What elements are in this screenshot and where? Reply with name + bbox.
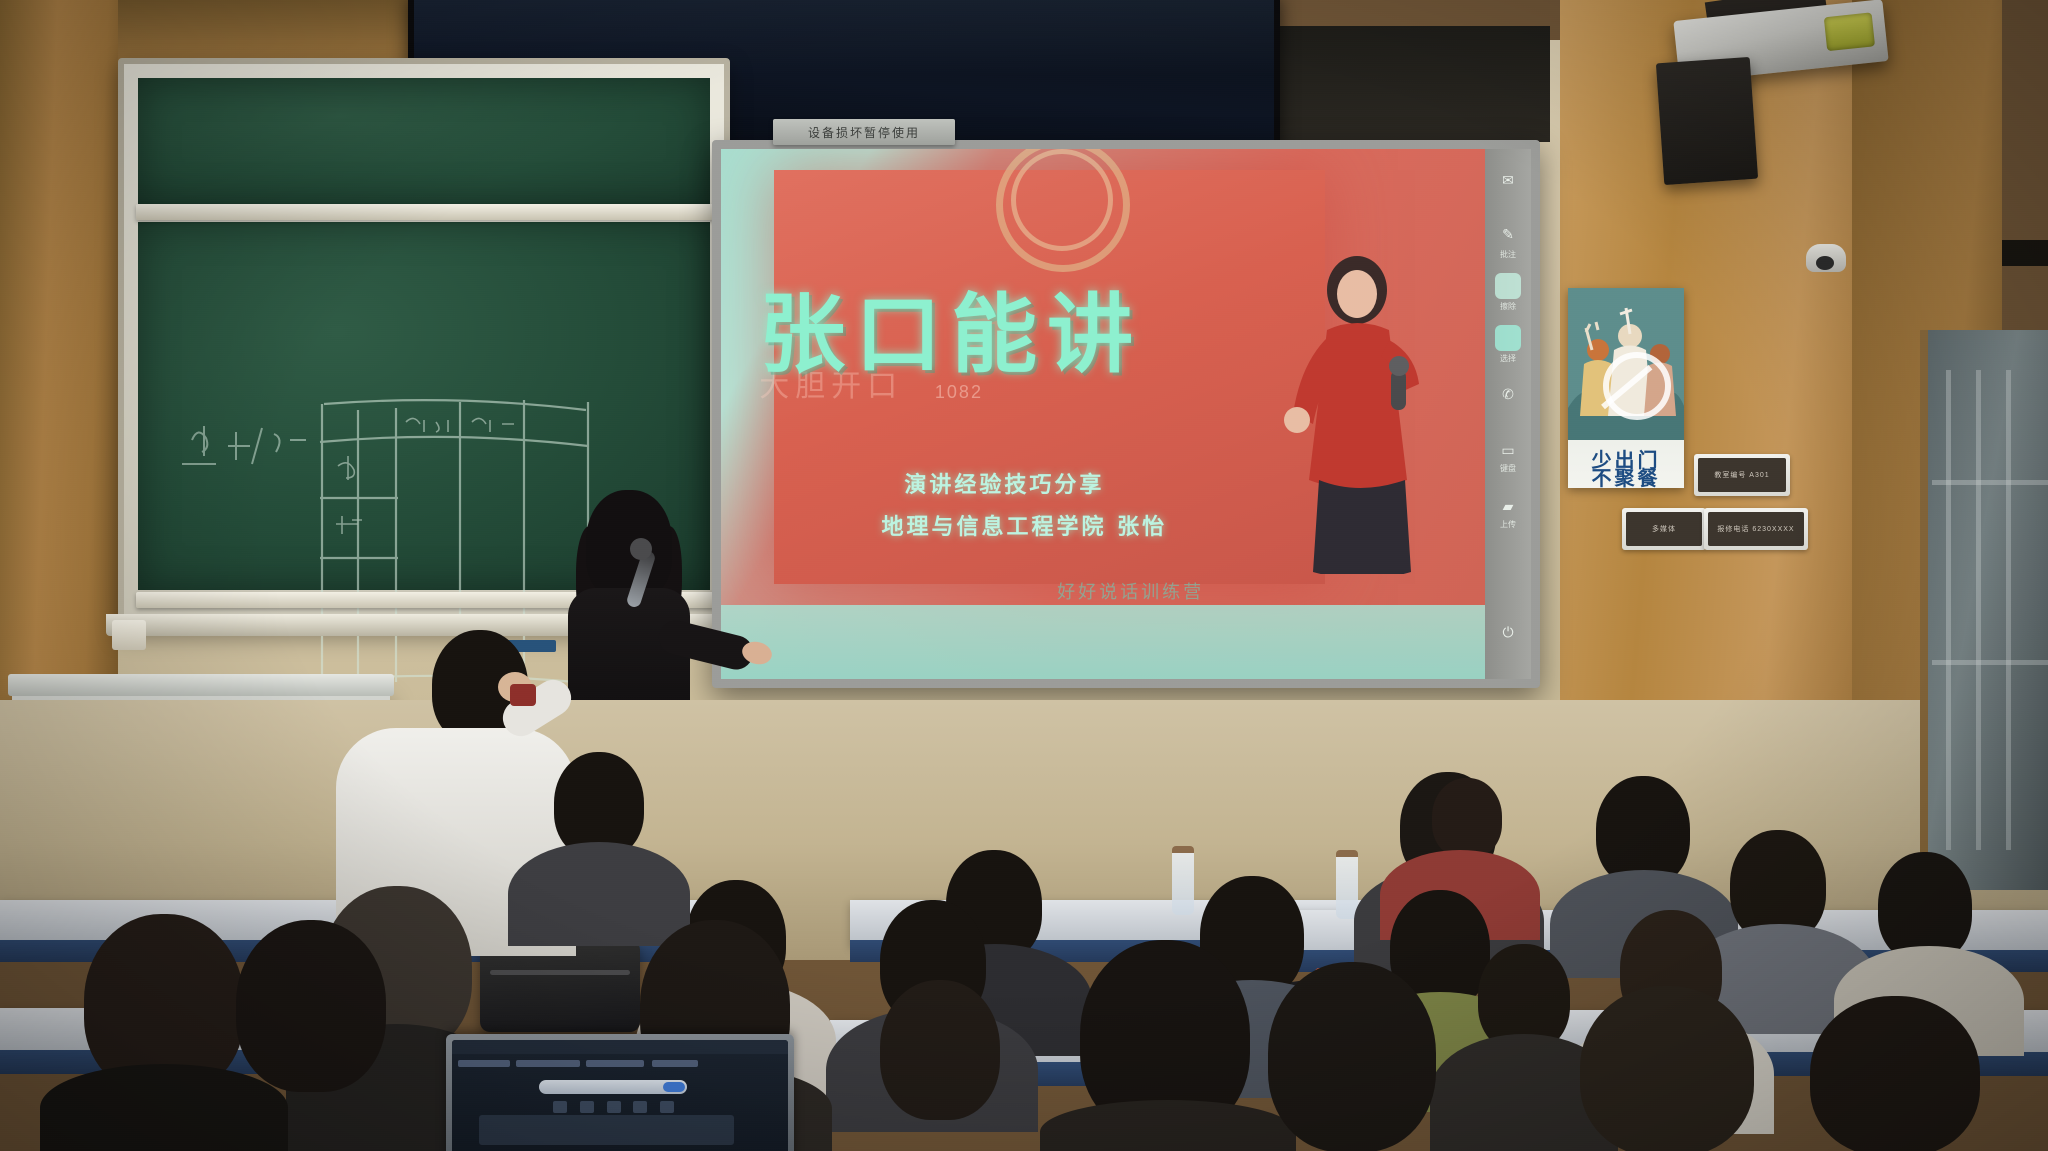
phone-icon[interactable]: ✆ [1495,381,1521,407]
wall-sign-repair-plate: 报修电话 6230XXXX [1708,512,1804,546]
laptop-search-button[interactable] [663,1082,685,1092]
laptop-browser-toolbar[interactable] [452,1040,788,1054]
wall-sign-room: 教室编号 A301 [1694,454,1790,496]
wall-speaker [1656,57,1758,185]
door-bar-h1 [1932,480,2048,485]
covid-notice-poster: 少出门 不聚餐 [1568,288,1684,488]
select-label: 选择 [1491,353,1525,364]
audience-head-back-5 [1432,778,1502,858]
laptop-tab-3[interactable] [586,1060,644,1067]
slide-subtitle-line1: 演讲经验技巧分享 [904,467,1104,499]
projector-lens-icon [1824,12,1875,51]
cloud-icon[interactable]: ▰ [1495,493,1521,519]
side-door[interactable] [1920,330,2048,890]
wall-sign-room-plate: 教室编号 A301 [1698,458,1786,492]
presenter-hair [586,490,672,600]
whiteboard-toolbar[interactable]: ✉ ✎ 批注 擦除 选择 ✆ ▭ 键盘 ▰ 上传 ⏻ [1485,149,1531,679]
chalk-box [112,620,146,650]
laptop-app-icon-3[interactable] [607,1101,621,1113]
water-bottle-1 [1172,846,1194,915]
wall-sign-multimedia-plate: 多媒体 [1626,512,1702,546]
door-bar-h2 [1932,660,2048,665]
laptop-app-icon-2[interactable] [580,1101,594,1113]
no-gathering-icon [1603,352,1671,420]
water-bottle-2 [1336,850,1358,919]
dome-camera [1806,244,1846,272]
pen-icon[interactable]: ✎ [1495,221,1521,247]
left-wood-column [0,0,118,760]
select-icon[interactable] [1495,325,1521,351]
audience-head-front-9 [1810,996,1980,1151]
lectern-top-surface [8,674,394,696]
backpack-zipper [490,970,630,975]
laptop-app-icon-5[interactable] [660,1101,674,1113]
camera-lens-icon [1816,256,1834,270]
microphone-head [630,538,652,560]
slide-footer-text: 好好说话训练营 [1057,578,1204,604]
eraser-label: 擦除 [1491,301,1525,312]
laptop-tab-2[interactable] [516,1060,580,1067]
power-icon[interactable]: ⏻ [1495,619,1521,645]
audience-body-front-6 [1040,1100,1296,1151]
slide-faint-number: 1082 [935,382,983,403]
door-bar-1 [1946,370,1951,850]
blackboard-rail-top [136,204,714,220]
laptop-content-panel [479,1115,734,1145]
standing-student-phone[interactable] [510,684,536,706]
eraser-icon[interactable] [1495,273,1521,299]
laptop-tab-1[interactable] [458,1060,510,1067]
audience-body-front-3 [40,1064,288,1151]
laptop-app-icon-1[interactable] [553,1101,567,1113]
laptop-screen[interactable] [452,1040,788,1151]
audience-head-front-4 [236,920,386,1092]
student-laptop[interactable] [446,1034,794,1151]
keyboard-icon[interactable]: ▭ [1495,437,1521,463]
device-status-label: 设备损坏暂停使用 [773,119,955,145]
wall-sign-repair: 报修电话 6230XXXX [1704,508,1808,550]
interactive-whiteboard[interactable]: 设备损坏暂停使用 大胆开口 1082 张口能讲 演讲经验技巧分享 地理与信息工程… [712,140,1540,688]
audience-head-front-8 [1580,986,1754,1151]
laptop-search-input[interactable] [539,1080,687,1094]
slide-bottom-bar [721,605,1485,679]
laptop-app-icon-4[interactable] [633,1101,647,1113]
pen-label: 批注 [1491,249,1525,260]
poster-line-2: 不聚餐 [1568,462,1684,491]
keyboard-label: 键盘 [1491,463,1525,474]
wall-sign-multimedia: 多媒体 [1622,508,1706,550]
door-bar-2 [1976,370,1981,850]
audience-head-front-7 [1268,962,1436,1151]
lecture-hall-scene: 设备损坏暂停使用 大胆开口 1082 张口能讲 演讲经验技巧分享 地理与信息工程… [0,0,2048,1151]
projected-slide: 大胆开口 1082 张口能讲 演讲经验技巧分享 地理与信息工程学院 张怡 好好说… [721,149,1485,679]
door-bar-3 [2006,370,2011,850]
audience-head-front-10 [880,980,1000,1120]
slide-speaker-illustration [1269,244,1439,574]
slide-inner-ring-decoration [1011,149,1113,251]
slide-subtitle-line2: 地理与信息工程学院 张怡 [881,509,1167,541]
cloud-label: 上传 [1491,519,1525,530]
laptop-tab-4[interactable] [652,1060,698,1067]
comment-icon[interactable]: ✉ [1495,167,1521,193]
blackboard-upper-panel [138,78,710,206]
audience-body-front-1 [508,842,690,946]
